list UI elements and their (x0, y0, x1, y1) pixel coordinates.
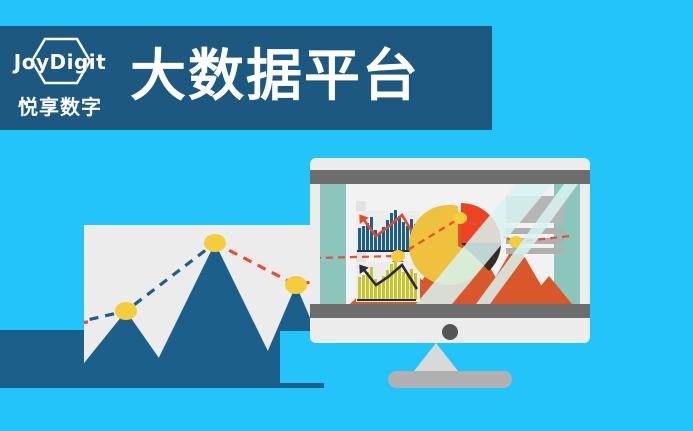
marker-1 (115, 302, 137, 320)
bottom-background-strip (0, 388, 693, 431)
brand-logo[interactable]: JoyDigit 悦享数字 (0, 26, 120, 130)
marker-3 (285, 276, 307, 294)
page-title: 大数据平台 (130, 49, 420, 105)
bar-chart-yellow[interactable] (355, 252, 420, 302)
doc-line-1 (506, 228, 564, 234)
monitor-screen (320, 184, 580, 304)
dashboard-content (320, 184, 580, 304)
monitor-stand-neck (414, 343, 458, 371)
logo-wordmark: JoyDigit (14, 52, 106, 72)
monitor-stand-base (388, 371, 512, 388)
trend-line-red-stub (84, 322, 88, 323)
dash-marker-1 (391, 250, 405, 262)
marker-2 (204, 234, 226, 252)
logo-chinese-name: 悦享数字 (18, 91, 102, 120)
monitor-top-bezel (310, 170, 590, 184)
dash-marker-3 (509, 236, 523, 248)
monitor-bottom-bezel (310, 304, 590, 318)
logo-mark: JoyDigit (6, 37, 114, 87)
monitor-power-dot (442, 324, 458, 340)
doc-header-block (506, 196, 564, 223)
doc-line-3 (506, 248, 564, 254)
desktop-monitor (310, 158, 590, 343)
pie-slice-red (461, 203, 501, 243)
header-banner: JoyDigit 悦享数字 大数据平台 (0, 26, 492, 130)
poster-canvas: JoyDigit 悦享数字 大数据平台 (0, 0, 693, 431)
dash-marker-2 (453, 212, 467, 224)
